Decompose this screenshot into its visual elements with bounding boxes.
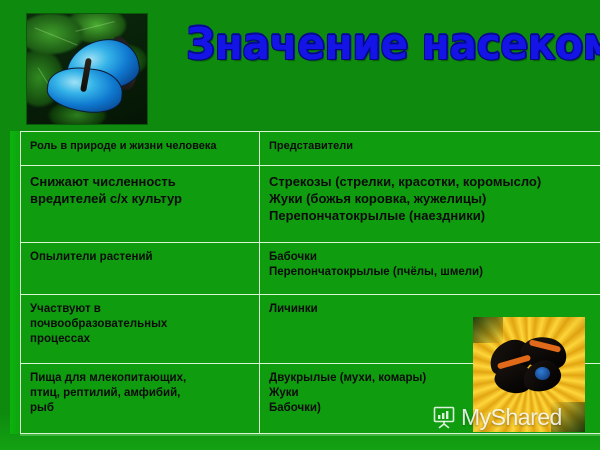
representative-line: Бабочки — [269, 250, 600, 265]
role-line: Опылители растений — [30, 250, 250, 265]
role-line: рыб — [30, 401, 250, 416]
cell-representatives: Бабочки Перепончатокрылые (пчёлы, шмели) — [260, 242, 600, 294]
role-line: Пища для млекопитающих, — [30, 371, 250, 386]
representative-line: Перепончатокрылые (пчёлы, шмели) — [269, 265, 600, 280]
blue-morpho-butterfly-photo — [27, 14, 147, 124]
slide-title: Значение насекомых — [186, 14, 596, 76]
role-line: Снижают численность — [30, 173, 250, 190]
cell-role: Опылители растений — [21, 242, 260, 294]
slide-root: Значение насекомых Роль в природе и жизн… — [0, 0, 600, 450]
slide-title-text: Значение насекомых — [186, 23, 600, 67]
role-line: процессах — [30, 332, 250, 347]
header-representatives-text: Представители — [269, 139, 600, 154]
table-row: Снижают численность вредителей с/х культ… — [21, 166, 600, 243]
header-cell-role: Роль в природе и жизни человека — [21, 132, 260, 166]
representative-line: Стрекозы (стрелки, красотки, коромысло) — [269, 173, 600, 190]
photo-corner-shade — [473, 317, 503, 343]
role-line: вредителей с/х культур — [30, 190, 250, 207]
table-row: Опылители растений Бабочки Перепончатокр… — [21, 242, 600, 294]
representative-line: Жуки (божья коровка, жужелицы) — [269, 190, 600, 207]
cell-role: Участвуют в почвообразовательных процесс… — [21, 294, 260, 364]
sunflower-butterfly-photo — [473, 317, 585, 432]
cell-role: Снижают численность вредителей с/х культ… — [21, 166, 260, 243]
role-line: почвообразовательных — [30, 317, 250, 332]
representative-line: Перепончатокрылые (наездники) — [269, 207, 600, 224]
photo-corner-shade — [551, 402, 585, 432]
role-line: птиц, рептилий, амфибий, — [30, 386, 250, 401]
butterfly-blue-spot — [535, 367, 550, 380]
representative-line: Личинки — [269, 302, 600, 317]
table-header-row: Роль в природе и жизни человека Представ… — [21, 132, 600, 166]
header-cell-representatives: Представители — [260, 132, 600, 166]
header-role-text: Роль в природе и жизни человека — [30, 139, 250, 154]
cell-representatives: Стрекозы (стрелки, красотки, коромысло) … — [260, 166, 600, 243]
role-line: Участвуют в — [30, 302, 250, 317]
cell-role: Пища для млекопитающих, птиц, рептилий, … — [21, 364, 260, 434]
slide-header: Значение насекомых — [0, 0, 600, 128]
